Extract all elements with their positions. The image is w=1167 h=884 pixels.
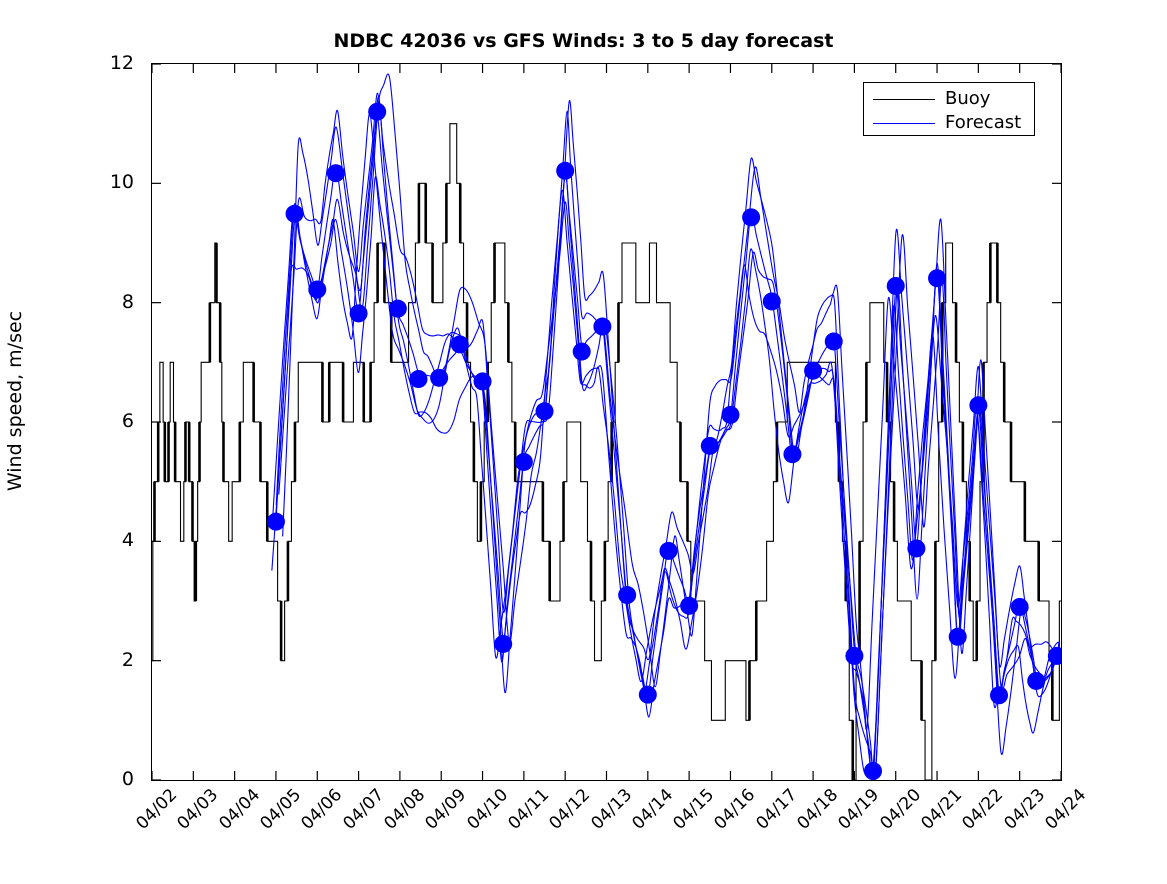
y-tick-label: 10 — [88, 171, 134, 193]
forecast-marker-dot — [474, 372, 492, 390]
forecast-marker-dot — [804, 362, 822, 380]
y-tick-label: 6 — [88, 410, 134, 432]
forecast-cycle-line — [279, 93, 1057, 780]
forecast-marker-dot — [593, 318, 611, 336]
chart-title: NDBC 42036 vs GFS Winds: 3 to 5 day fore… — [0, 30, 1167, 52]
forecast-marker-dot — [1027, 672, 1045, 690]
forecast-marker-dot — [308, 281, 326, 299]
forecast-marker-dot — [327, 164, 345, 182]
forecast-marker-dot — [451, 335, 469, 353]
forecast-marker-dot — [763, 292, 781, 310]
forecast-cycle-line — [283, 74, 1059, 775]
forecast-marker-dot — [907, 539, 925, 557]
plot-svg — [152, 64, 1061, 780]
legend-item: Buoy — [864, 87, 1034, 111]
y-axis-tick-labels: 024681012 — [88, 63, 134, 779]
forecast-marker-dot — [1011, 598, 1029, 616]
y-axis-label: Wind speed, m/sec — [4, 121, 26, 681]
x-axis-tick-labels: 04/0204/0304/0404/0504/0604/0704/0804/09… — [151, 785, 1060, 875]
legend-swatch — [873, 99, 935, 100]
forecast-marker-dot — [969, 396, 987, 414]
legend-label: Buoy — [945, 90, 990, 108]
forecast-series-group — [272, 74, 1059, 780]
y-tick-label: 12 — [88, 52, 134, 74]
forecast-marker-dot — [721, 406, 739, 424]
legend-label: Forecast — [945, 114, 1021, 132]
forecast-marker-dot — [410, 370, 428, 388]
plot-area — [151, 63, 1062, 781]
forecast-marker-dot — [680, 597, 698, 615]
forecast-marker-dot — [990, 686, 1008, 704]
forecast-marker-dot — [659, 542, 677, 560]
forecast-marker-dot — [618, 586, 636, 604]
forecast-marker-dot — [701, 437, 719, 455]
y-tick-label: 2 — [88, 649, 134, 671]
forecast-marker-dot — [949, 628, 967, 646]
chart-legend: BuoyForecast — [863, 82, 1035, 136]
forecast-marker-dot — [368, 103, 386, 121]
forecast-marker-dot — [286, 205, 304, 223]
forecast-marker-dot — [389, 300, 407, 318]
forecast-marker-dot — [928, 269, 946, 287]
y-tick-label: 8 — [88, 291, 134, 313]
forecast-marker-dot — [515, 453, 533, 471]
forecast-marker-dot — [556, 162, 574, 180]
forecast-cycle-line — [276, 97, 1057, 780]
forecast-marker-dot — [639, 686, 657, 704]
forecast-marker-dot — [887, 277, 905, 295]
forecast-marker-dot — [267, 513, 285, 531]
legend-item: Forecast — [864, 111, 1034, 135]
figure-canvas: NDBC 42036 vs GFS Winds: 3 to 5 day fore… — [0, 0, 1167, 875]
forecast-marker-dot — [536, 402, 554, 420]
forecast-marker-dot — [742, 208, 760, 226]
forecast-marker-dot — [825, 332, 843, 350]
forecast-marker-dot — [494, 635, 512, 653]
forecast-marker-dot — [1048, 647, 1061, 665]
y-tick-label: 4 — [88, 529, 134, 551]
forecast-marker-dot — [350, 304, 368, 322]
forecast-marker-dot — [783, 445, 801, 463]
forecast-cycle-line — [276, 117, 1057, 778]
forecast-marker-dot — [845, 647, 863, 665]
y-tick-label: 0 — [88, 768, 134, 790]
legend-swatch — [873, 123, 935, 124]
forecast-marker-dot — [864, 762, 882, 780]
forecast-marker-dot — [573, 343, 591, 361]
forecast-marker-dot — [430, 369, 448, 387]
